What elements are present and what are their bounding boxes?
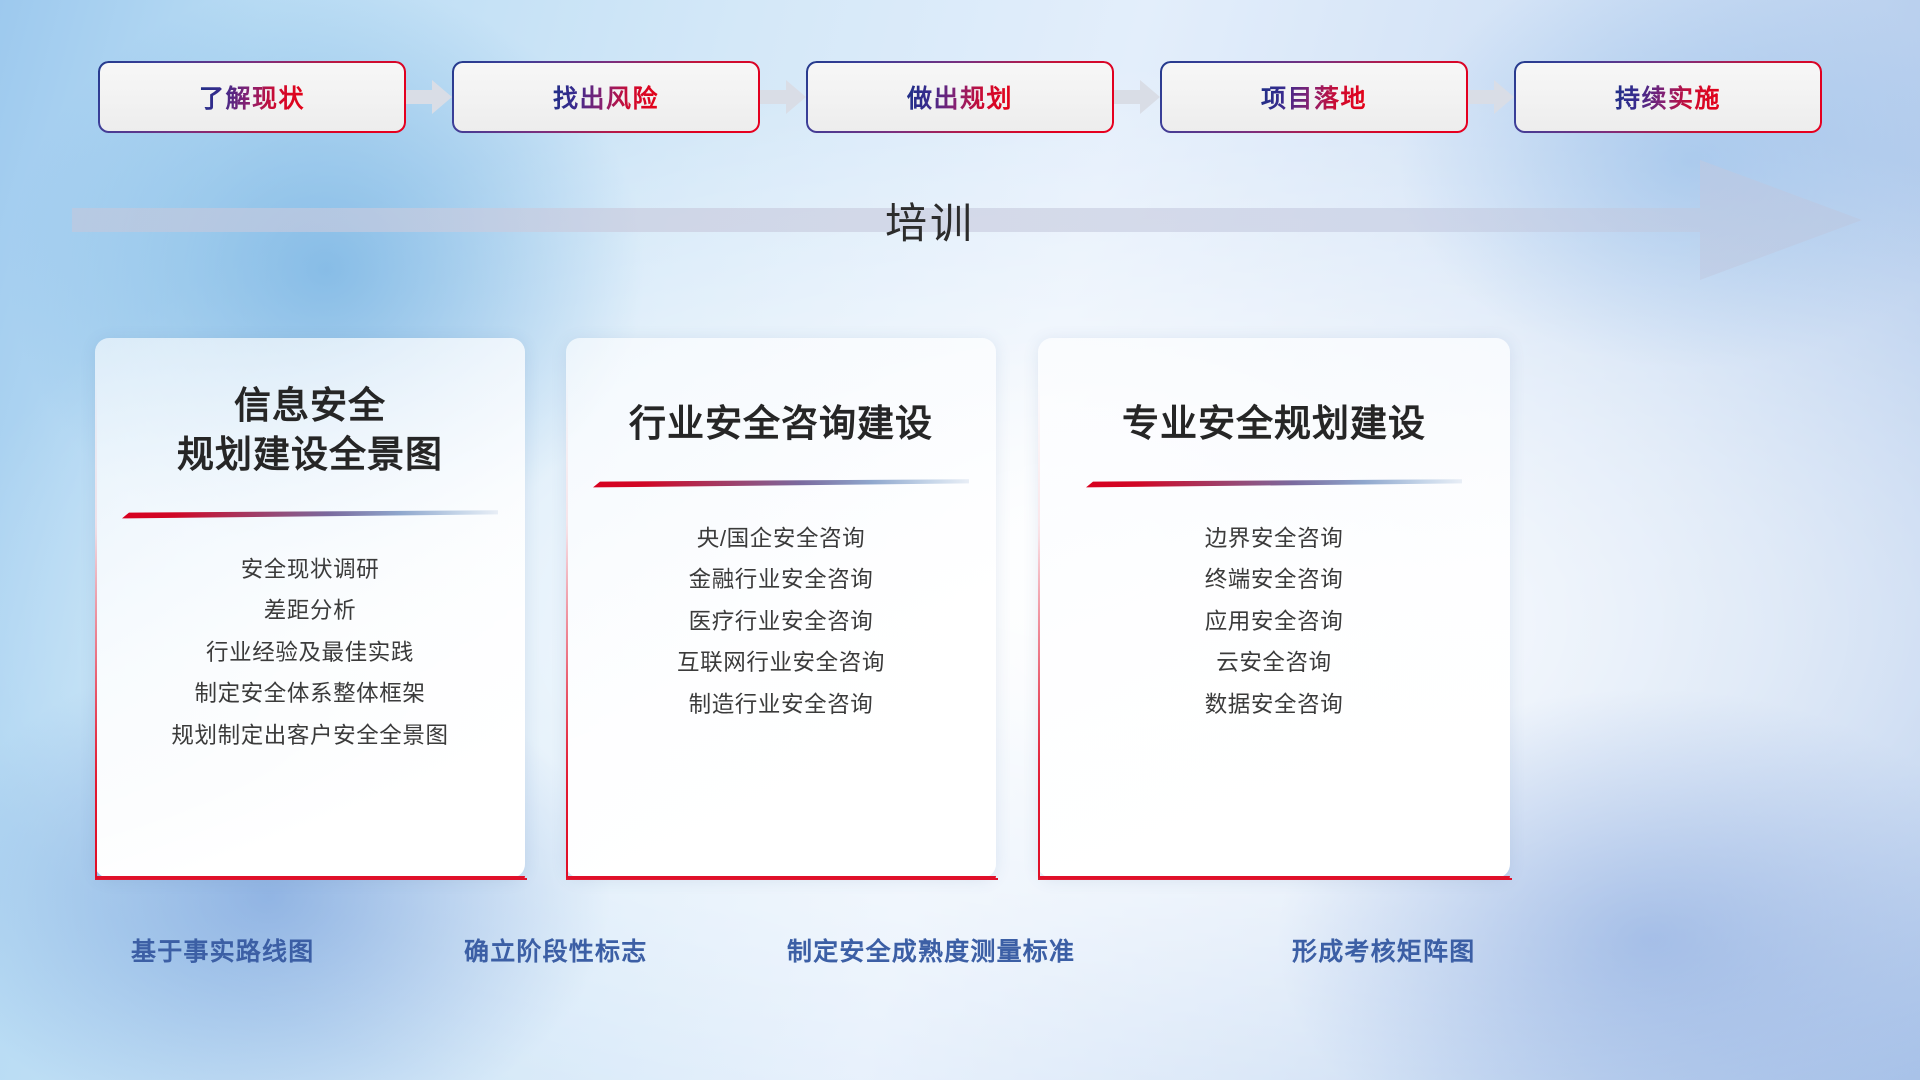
step-box-4[interactable]: 项目落地 [1162,63,1466,131]
card-divider [1086,475,1462,484]
list-item: 边界安全咨询 [1038,518,1510,560]
chevron-right-arrow-icon [758,79,808,115]
card-divider [593,475,969,484]
step-label: 找出风险 [553,79,659,115]
chevron-right-arrow-icon [1112,79,1162,115]
chevron-right-arrow-icon [1466,79,1516,115]
list-item: 制造行业安全咨询 [566,684,996,726]
bottom-label: 制定安全成熟度测量标准 [787,932,1075,968]
card-item-list: 安全现状调研 差距分析 行业经验及最佳实践 制定安全体系整体框架 规划制定出客户… [95,549,525,757]
step-box-1[interactable]: 了解现状 [100,63,404,131]
step-label: 持续实施 [1615,79,1721,115]
bottom-label: 形成考核矩阵图 [1292,932,1475,968]
training-banner: 培训 [0,160,1920,280]
step-box-2[interactable]: 找出风险 [454,63,758,131]
list-item: 云安全咨询 [1038,642,1510,684]
list-item: 安全现状调研 [95,549,525,591]
card-info-security-panorama[interactable]: 信息安全 规划建设全景图 安全现状调研 [95,338,525,878]
card-title: 专业安全规划建设 [1122,400,1426,449]
step-label: 了解现状 [199,79,305,115]
list-item: 应用安全咨询 [1038,601,1510,643]
bottom-label: 确立阶段性标志 [464,932,647,968]
list-item: 行业经验及最佳实践 [95,632,525,674]
list-item: 金融行业安全咨询 [566,559,996,601]
card-industry-security-consulting[interactable]: 行业安全咨询建设 央/国企安全咨询 金 [566,338,996,878]
card-title: 信息安全 规划建设全景图 [177,382,443,480]
list-item: 终端安全咨询 [1038,559,1510,601]
step-box-5[interactable]: 持续实施 [1516,63,1820,131]
list-item: 数据安全咨询 [1038,684,1510,726]
step-box-3[interactable]: 做出规划 [808,63,1112,131]
list-item: 央/国企安全咨询 [566,518,996,560]
list-item: 差距分析 [95,590,525,632]
list-item: 制定安全体系整体框架 [95,673,525,715]
process-steps-row: 了解现状 找出风险 做出规划 项目落地 持续实施 [0,61,1920,133]
list-item: 互联网行业安全咨询 [566,642,996,684]
card-professional-security-planning[interactable]: 专业安全规划建设 边界安全咨询 终端安 [1038,338,1510,878]
list-item: 规划制定出客户安全全景图 [95,715,525,757]
cards-row: 信息安全 规划建设全景图 安全现状调研 [0,338,1920,878]
step-label: 项目落地 [1261,79,1367,115]
card-title: 行业安全咨询建设 [629,400,933,449]
card-item-list: 边界安全咨询 终端安全咨询 应用安全咨询 云安全咨询 数据安全咨询 [1038,518,1510,726]
bottom-label: 基于事实路线图 [131,932,314,968]
training-banner-label: 培训 [0,160,1920,280]
chevron-right-arrow-icon [404,79,454,115]
step-label: 做出规划 [907,79,1013,115]
card-divider [122,506,498,515]
card-item-list: 央/国企安全咨询 金融行业安全咨询 医疗行业安全咨询 互联网行业安全咨询 制造行… [566,518,996,726]
bottom-labels-row: 基于事实路线图 确立阶段性标志 制定安全成熟度测量标准 形成考核矩阵图 [0,932,1920,982]
list-item: 医疗行业安全咨询 [566,601,996,643]
